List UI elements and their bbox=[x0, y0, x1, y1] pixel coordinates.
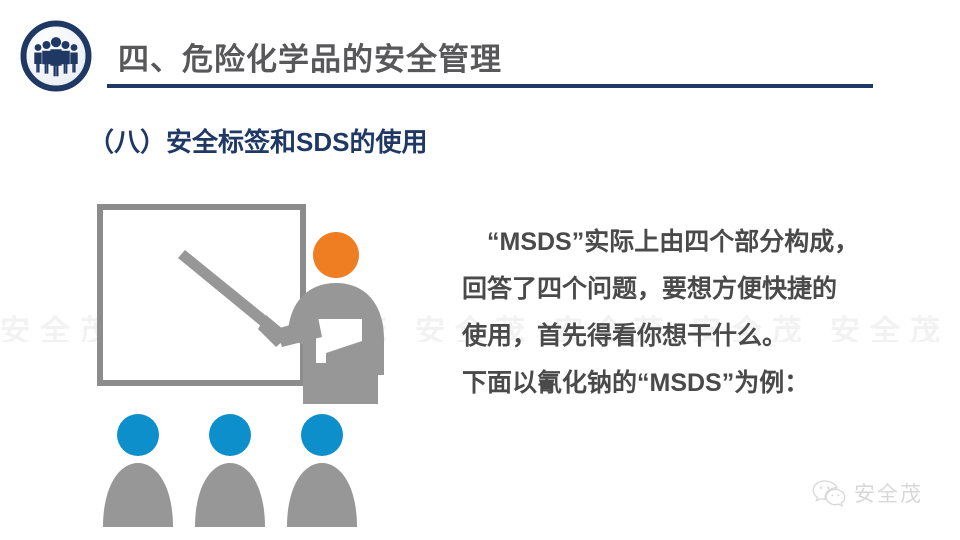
presenter-head-icon bbox=[313, 232, 359, 278]
audience-head-icon bbox=[209, 414, 251, 456]
audience-head-icon bbox=[301, 414, 343, 456]
body-text-block: “MSDS”实际上由四个部分构成， 回答了四个问题，要想方便快捷的 使用，首先得… bbox=[462, 219, 924, 407]
body-line-4: 下面以氰化钠的“MSDS”为例： bbox=[462, 360, 924, 407]
body-line-2: 回答了四个问题，要想方便快捷的 bbox=[462, 266, 924, 313]
page-title: 四、危险化学品的安全管理 bbox=[118, 34, 502, 79]
header-underline-rule bbox=[107, 84, 873, 88]
section-subtitle: （八）安全标签和SDS的使用 bbox=[88, 122, 427, 159]
corner-watermark-text: 安全茂 bbox=[854, 478, 923, 508]
classroom-presentation-illustration bbox=[90, 195, 435, 535]
header-logo bbox=[18, 18, 94, 94]
wechat-icon bbox=[812, 479, 846, 507]
slide-canvas: 四、危险化学品的安全管理 （八）安全标签和SDS的使用 安全茂 安全茂 安全茂 … bbox=[0, 0, 960, 540]
audience-figures-icon bbox=[103, 414, 357, 527]
corner-watermark: 安全茂 bbox=[812, 478, 923, 508]
whiteboard-icon bbox=[100, 207, 303, 383]
audience-head-icon bbox=[117, 414, 159, 456]
body-line-3: 使用，首先得看你想干什么。 bbox=[462, 313, 924, 360]
podium-icon bbox=[303, 370, 378, 404]
body-line-1: “MSDS”实际上由四个部分构成， bbox=[462, 219, 924, 266]
